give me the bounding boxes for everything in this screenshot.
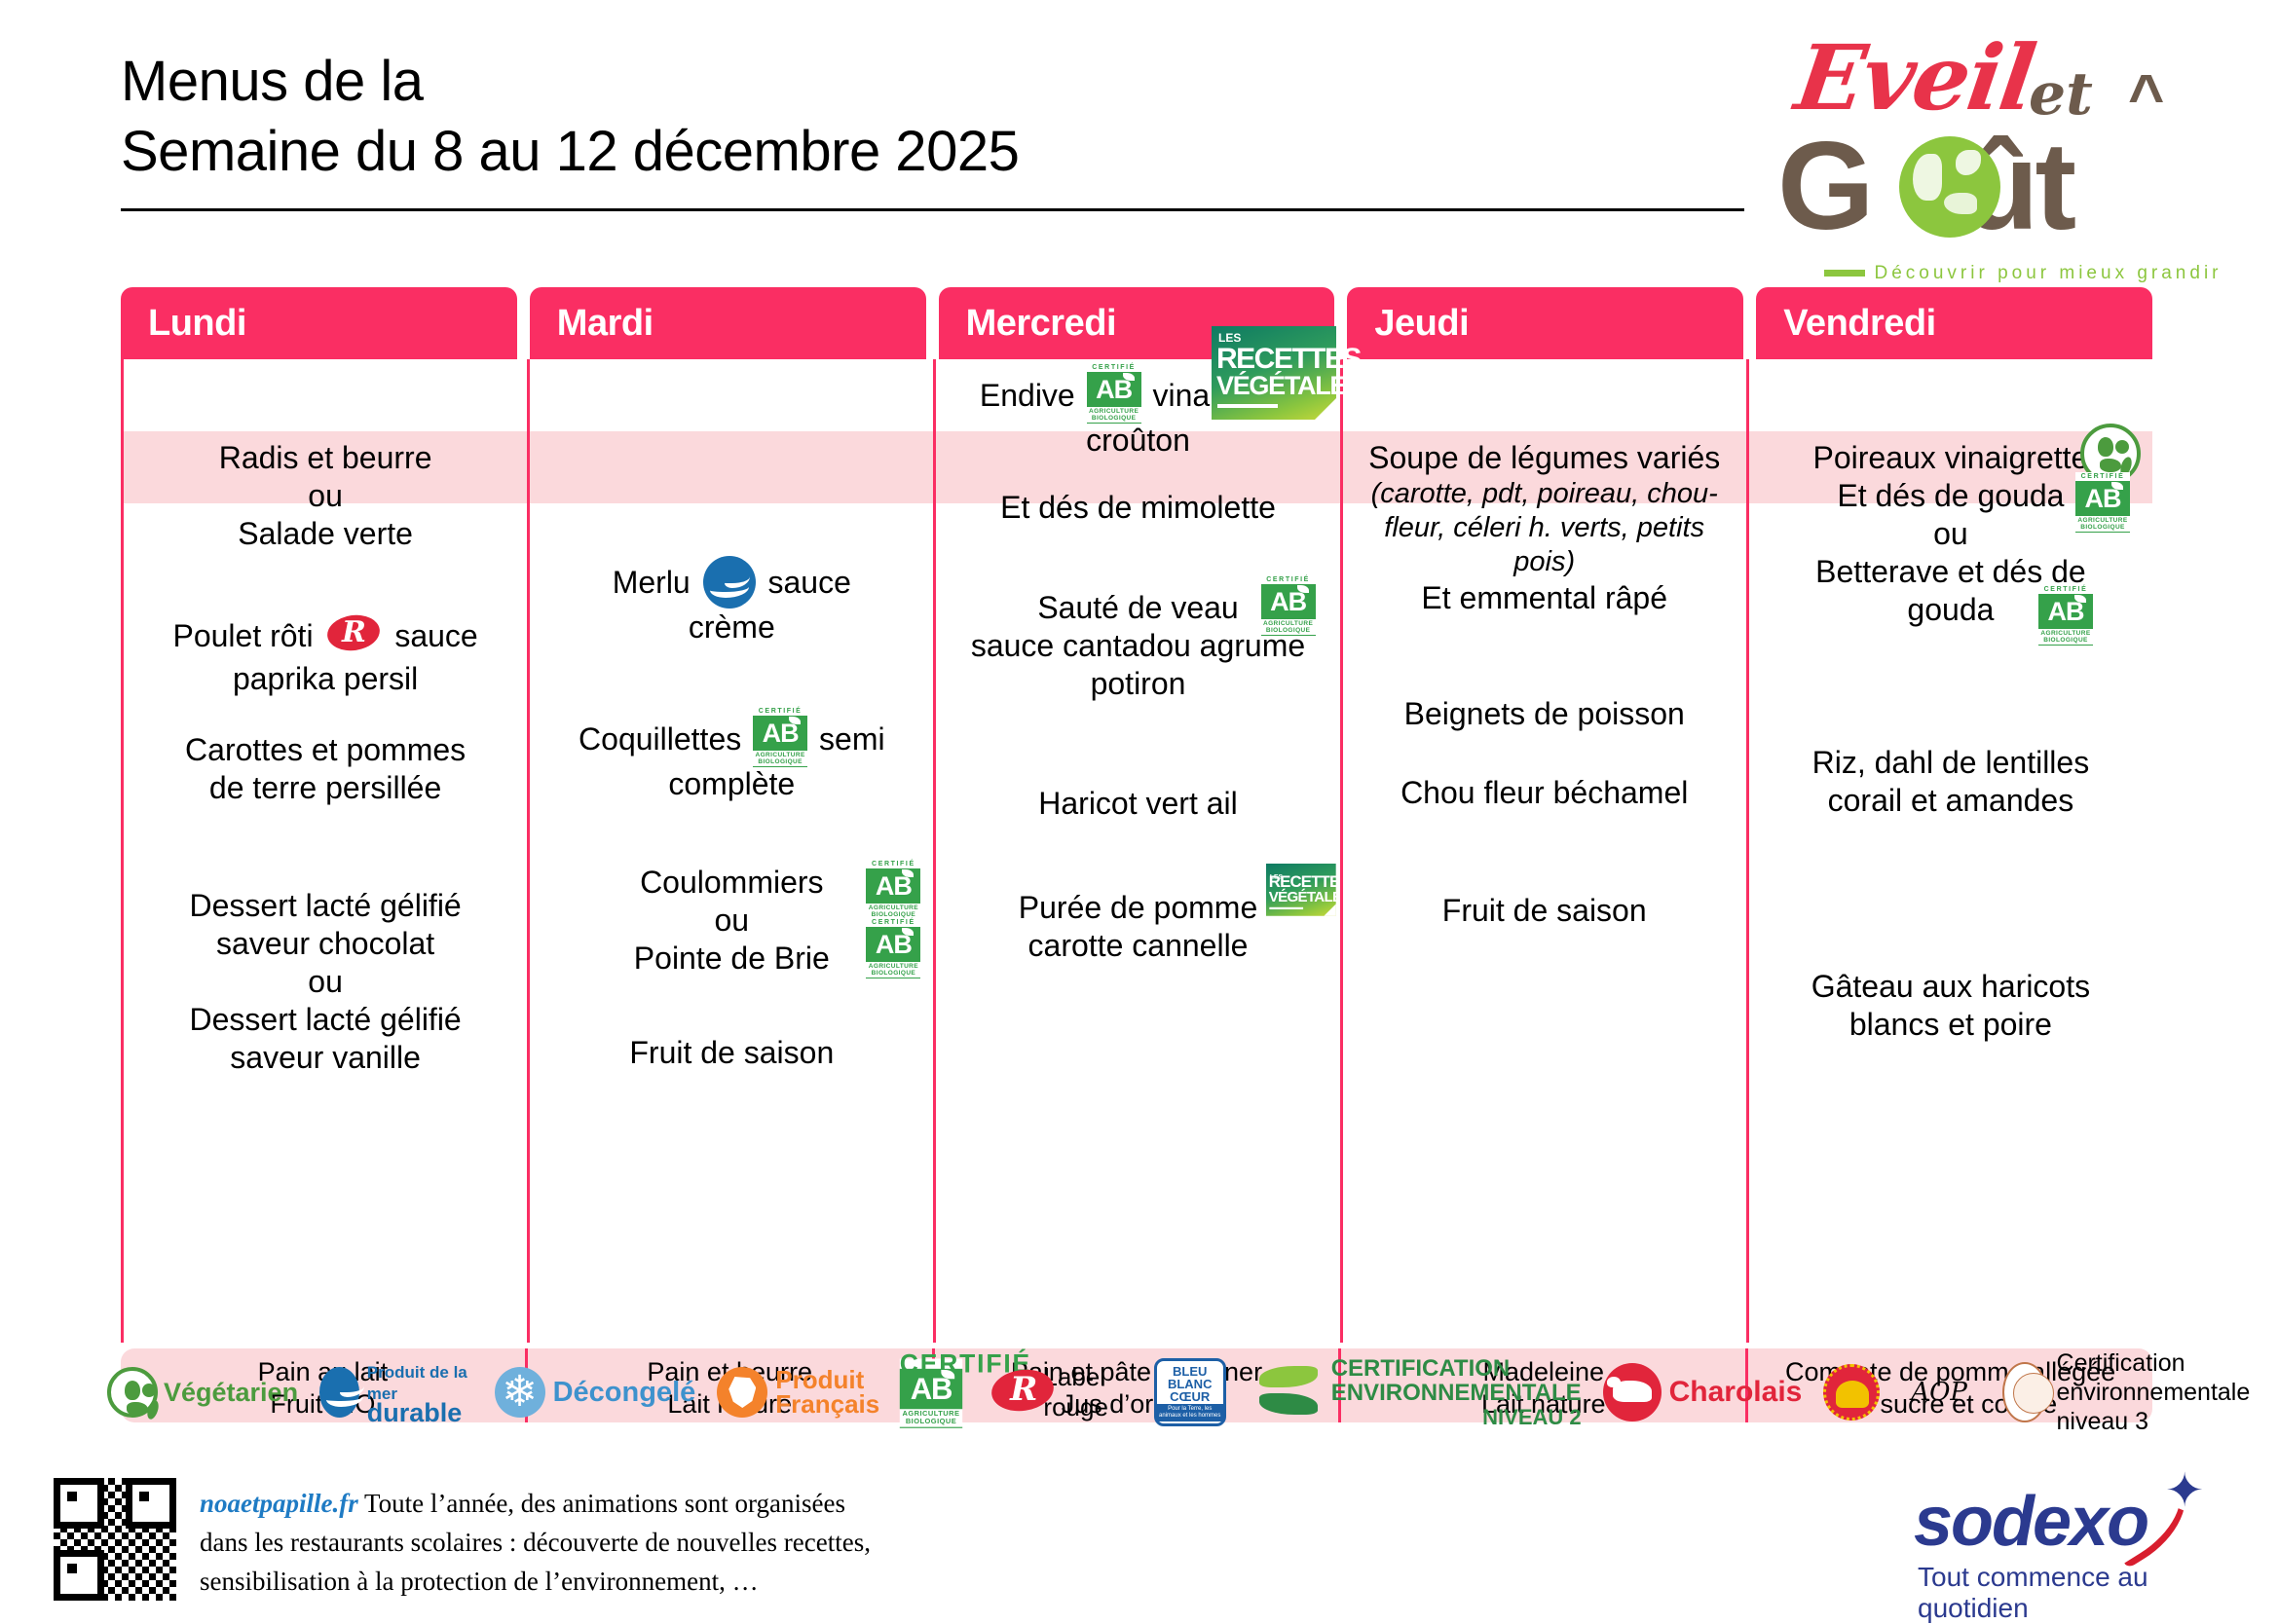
dish-line-italic: (carotte, pdt, poireau, chou-: [1349, 477, 1740, 511]
recettes-vegetales-badge-mercredi: LES RECETTES VÉGÉTALES: [1212, 326, 1336, 420]
page-header: Menus de la Semaine du 8 au 12 décembre …: [0, 0, 2278, 282]
dish-line: Coquillettes: [579, 721, 741, 757]
dish-line: crème: [536, 609, 927, 646]
dish-line: croûton: [942, 422, 1333, 460]
ab-cap: CERTIFIÉ: [1261, 575, 1316, 584]
ab-icon: CERTIFIÉ AB AGRICULTURE BIOLOGIQUE: [1261, 575, 1316, 634]
ab-cap: CERTIFIÉ: [866, 860, 920, 868]
footer-line3: sensibilisation à la protection de l’env…: [200, 1567, 759, 1596]
rv-vegetales: VÉGÉTALES: [1268, 890, 1339, 904]
legend-label-group: Produit de la mer durable: [367, 1362, 473, 1423]
ab-foot2: BIOLOGIQUE: [1087, 415, 1141, 424]
day-label: Mardi: [557, 303, 654, 345]
dish-line: Radis et beurre: [130, 439, 521, 477]
day-header-mardi: Mardi: [530, 287, 926, 359]
legend-label-group: Produit Français: [775, 1368, 879, 1417]
dish-line: Salade verte: [130, 515, 521, 553]
day-header-vendredi: Vendredi: [1756, 287, 2152, 359]
legend-label-group: Certification environnementale niveau 3: [2057, 1348, 2266, 1436]
dish-dessert: Fruit de saison: [1349, 892, 1740, 930]
ab-foot1: AGRICULTURE: [866, 904, 920, 911]
dish-entree: Soupe de légumes variés (carotte, pdt, p…: [1349, 439, 1740, 617]
rv-vegetales: VÉGÉTALES: [1216, 373, 1363, 399]
dish-dessert: Gâteau aux haricots blancs et poire: [1755, 968, 2147, 1044]
tagline-dash-left-icon: [1824, 270, 1865, 277]
menu-columns: Radis et beurre ou Salade verte Poulet r…: [121, 359, 2152, 1343]
recettes-vegetales-icon: LES RECETTES VÉGÉTALES: [1266, 864, 1336, 916]
day-header-lundi: Lundi: [121, 287, 517, 359]
ab-cap: CERTIFIÉ: [753, 707, 807, 716]
dish-entree: Radis et beurre ou Salade verte: [130, 439, 521, 553]
recettes-vegetales-badge-dessert: LES RECETTES VÉGÉTALES: [1266, 864, 1340, 918]
ab-foot1: AGRICULTURE: [1087, 408, 1141, 415]
ab-cap: CERTIFIÉ: [1087, 363, 1141, 372]
label-rouge-letter: R: [323, 613, 384, 660]
bleu-blanc-coeur-icon: BLEU BLANC CŒUR Pour la Terre, les anima…: [1154, 1358, 1226, 1426]
ab-foot1: AGRICULTURE: [2038, 630, 2093, 637]
page-footer: noaetpapille.fr Toute l’année, des anima…: [0, 1457, 2278, 1610]
page-title: Menus de la Semaine du 8 au 12 décembre …: [121, 47, 1737, 187]
day-label: Vendredi: [1783, 303, 1936, 345]
legend-label: Décongelé: [553, 1377, 696, 1409]
dish-line: Soupe de légumes variés: [1349, 439, 1740, 477]
dish-line: Et emmental râpé: [1349, 579, 1740, 617]
ab-cap: CERTIFIÉ: [2038, 585, 2093, 594]
legend-label-line1: CERTIFICATION: [1331, 1356, 1582, 1381]
dish-line: saveur chocolat: [130, 925, 521, 963]
dish-line: saveur vanille: [130, 1039, 521, 1077]
legend-label: Charolais: [1669, 1376, 1803, 1409]
legend-label-bottom: durable: [367, 1402, 473, 1423]
legend-label-group: CERTIFICATION ENVIRONNEMENTALE NIVEAU 2: [1331, 1356, 1582, 1429]
aop-badge-icon: [1823, 1364, 1880, 1421]
legend-item-label-rouge: R Label rouge: [988, 1362, 1133, 1422]
qr-finder-top-right: [126, 1478, 176, 1529]
title-underline: [121, 208, 1744, 211]
dish-line: Endive: [980, 378, 1075, 413]
dish-line: de terre persillée: [130, 769, 521, 807]
ab-icon: CERTIFIÉ AB AGRICULTURE BIOLOGIQUE: [866, 918, 920, 977]
qr-finder-top-left: [54, 1478, 104, 1529]
legend-label-line2: environnementale niveau 3: [2057, 1378, 2266, 1436]
menu-column-mardi: Merlu sauce crème Coquillettes CERTIFIÉ …: [527, 359, 933, 1343]
dish-line: Beignets de poisson: [1349, 695, 1740, 733]
dish-line: semi: [819, 721, 885, 757]
legend-label: Végétarien: [164, 1378, 298, 1408]
ab-foot2: BIOLOGIQUE: [1261, 627, 1316, 636]
dish-garniture: Haricot vert ail: [942, 785, 1333, 823]
dish-garniture: Coquillettes CERTIFIÉ AB AGRICULTURE BIO…: [536, 707, 927, 803]
dish-line: Poireaux vinaigrette: [1813, 440, 2089, 475]
vegetarien-icon: [107, 1367, 158, 1418]
sodexo-tagline: Tout commence au quotidien: [1918, 1562, 2235, 1624]
ab-foot2: BIOLOGIQUE: [866, 970, 920, 978]
ab-foot1: AGRICULTURE: [866, 963, 920, 970]
dish-line: Dessert lacté gélifié: [130, 1001, 521, 1039]
legend-item-certification-environnementale-n2: CERTIFICATION ENVIRONNEMENTALE NIVEAU 2: [1255, 1356, 1582, 1429]
dish-line: Merlu: [613, 565, 691, 600]
legend-item-decongele: ❄ Décongelé: [495, 1367, 696, 1418]
dish-garniture: Carottes et pommes de terre persillée: [130, 731, 521, 807]
sodexo-star-icon: ✦: [2165, 1468, 2204, 1515]
dish-line-italic: pois): [1349, 545, 1740, 579]
certification-legend: Végétarien Produit de la mer durable ❄ D…: [107, 1342, 2211, 1443]
ab-cap: CERTIFIÉ: [900, 1359, 962, 1369]
legend-item-aop-badge: [1823, 1364, 1889, 1421]
rv-recettes: RECETTES: [1216, 345, 1361, 374]
logo-circumflex-icon: ^: [2128, 60, 2164, 132]
dish-plat: Poulet rôti R sauce paprika persil: [130, 613, 521, 698]
rv-underline-icon: [1269, 907, 1303, 909]
dish-line: Gâteau aux haricots: [1755, 968, 2147, 1006]
ab-icon: CERTIFIÉ AB AGRICULTURE BIOLOGIQUE: [866, 860, 920, 918]
dish-dessert: Purée de pomme carotte cannelle LES RECE…: [942, 889, 1333, 965]
legend-item-agriculture-biologique: CERTIFIÉ AB AGRICULTURE BIOLOGIQUE: [901, 1363, 966, 1421]
legend-item-haute-valeur-environnementale: Certification environnementale niveau 3: [2002, 1348, 2266, 1436]
ab-foot1: AGRICULTURE: [753, 752, 807, 758]
day-label: Jeudi: [1374, 303, 1469, 345]
ab-foot1: AGRICULTURE: [2075, 517, 2130, 524]
dish-line: blancs et poire: [1755, 1006, 2147, 1044]
ab-cap: CERTIFIÉ: [2075, 472, 2130, 481]
dish-line: sauce: [394, 618, 477, 653]
ab-icon: CERTIFIÉ AB AGRICULTURE BIOLOGIQUE: [753, 707, 807, 765]
menu-column-jeudi: Soupe de légumes variés (carotte, pdt, p…: [1340, 359, 1746, 1343]
legend-item-aop-text: AOP: [1911, 1378, 1981, 1407]
haute-valeur-environnementale-icon: [2002, 1362, 2047, 1422]
ab-foot2: BIOLOGIQUE: [2075, 524, 2130, 533]
dish-dessert: Fruit de saison: [536, 1034, 927, 1072]
day-header-row: Lundi Mardi Mercredi Jeudi Vendredi: [121, 287, 2152, 359]
bbc-text: BLEU BLANC CŒUR: [1157, 1365, 1223, 1403]
dish-line: ou: [130, 963, 521, 1001]
dish-line: Carottes et pommes: [130, 731, 521, 769]
dish-plat: Riz, dahl de lentilles corail et amandes: [1755, 744, 2147, 820]
dish-line: sauce: [768, 565, 851, 600]
dish-fromage: Coulommiers ou Pointe de Brie CERTIFIÉ A…: [536, 864, 927, 978]
qr-finder-bottom-left: [54, 1550, 104, 1601]
dish-line: Haricot vert ail: [942, 785, 1333, 823]
footer-line2: dans les restaurants scolaires : découve…: [200, 1528, 871, 1557]
ab-icon: CERTIFIÉ AB AGRICULTURE BIOLOGIQUE: [900, 1359, 962, 1426]
certification-environnementale-icon: [1255, 1360, 1324, 1424]
label-rouge-icon: R: [323, 613, 384, 660]
footer-url-link[interactable]: noaetpapille.fr: [200, 1489, 358, 1518]
dish-plat: Beignets de poisson: [1349, 695, 1740, 733]
france-map-icon: [717, 1367, 767, 1418]
produit-mer-icon: [319, 1367, 359, 1418]
recettes-vegetales-icon: LES RECETTES VÉGÉTALES: [1212, 326, 1336, 420]
label-rouge-icon: R: [988, 1367, 1035, 1418]
legend-item-charolais: Charolais: [1603, 1363, 1803, 1421]
produit-mer-icon: [703, 556, 756, 609]
dish-line: corail et amandes: [1755, 782, 2147, 820]
ab-foot1: AGRICULTURE: [900, 1410, 962, 1418]
dish-line: Chou fleur béchamel: [1349, 774, 1740, 812]
dish-plat: Sauté de veau sauce cantadou agrume poti…: [942, 589, 1333, 703]
dish-garniture: Chou fleur béchamel: [1349, 774, 1740, 812]
legend-label-line3: NIVEAU 2: [1331, 1405, 1582, 1429]
ab-icon: CERTIFIÉ AB AGRICULTURE BIOLOGIQUE: [2038, 585, 2093, 644]
dish-line: complète: [536, 765, 927, 803]
legend-item-bleu-blanc-coeur: BLEU BLANC CŒUR Pour la Terre, les anima…: [1154, 1358, 1234, 1426]
dish-line: Dessert lacté gélifié: [130, 887, 521, 925]
legend-label: AOP: [1911, 1378, 1967, 1407]
dish-line: paprika persil: [130, 660, 521, 698]
menu-column-vendredi: Poireaux vinaigrette Et dés de gouda CER…: [1746, 359, 2152, 1343]
dish-line: carotte cannelle: [942, 927, 1333, 965]
dish-line: potiron: [942, 665, 1333, 703]
globe-icon: [1899, 136, 2000, 238]
dish-line: ou: [130, 477, 521, 515]
ab-icon: CERTIFIÉ AB AGRICULTURE BIOLOGIQUE: [2075, 472, 2130, 531]
footer-line1: Toute l’année, des animations sont organ…: [358, 1489, 845, 1518]
ab-cap: CERTIFIÉ: [866, 918, 920, 927]
legend-item-produit-francais: Produit Français: [717, 1367, 879, 1418]
legend-label-line1: Certification: [2057, 1348, 2266, 1378]
dish-line-italic: fleur, céleri h. verts, petits: [1349, 511, 1740, 545]
dish-line: Et dés de mimolette: [942, 489, 1333, 527]
title-line-1: Menus de la: [121, 47, 1737, 117]
menu-week-grid: Lundi Mardi Mercredi Jeudi Vendredi LES …: [121, 287, 2152, 1422]
footer-text: noaetpapille.fr Toute l’année, des anima…: [200, 1484, 969, 1601]
ab-foot2: BIOLOGIQUE: [900, 1418, 962, 1427]
sodexo-logo: sodexo ✦ Tout commence au quotidien: [1914, 1476, 2235, 1603]
eveil-et-gout-logo: Eveil et ^ G ût Découvrir pour mieux gra…: [1768, 18, 2264, 285]
rv-underline-icon: [1217, 404, 1278, 408]
dish-line: Fruit de saison: [1349, 892, 1740, 930]
day-label: Mercredi: [966, 303, 1116, 345]
title-line-2: Semaine du 8 au 12 décembre 2025: [121, 117, 1737, 187]
logo-eveil-text: Eveil: [1789, 25, 2039, 130]
dish-plat: Merlu sauce crème: [536, 556, 927, 646]
menu-column-mercredi: Endive CERTIFIÉ AB AGRICULTURE BIOLOGIQU…: [933, 359, 1339, 1343]
day-header-jeudi: Jeudi: [1347, 287, 1743, 359]
bbc-line3: CŒUR: [1170, 1389, 1210, 1404]
legend-item-produit-mer-durable: Produit de la mer durable: [319, 1362, 473, 1423]
dish-line: Riz, dahl de lentilles: [1755, 744, 2147, 782]
cow-icon: [1603, 1363, 1662, 1421]
day-label: Lundi: [148, 303, 246, 345]
dish-entree: Poireaux vinaigrette Et dés de gouda CER…: [1755, 439, 2147, 629]
dish-fromage: Et dés de mimolette: [942, 489, 1333, 527]
legend-item-vegetarien: Végétarien: [107, 1367, 298, 1418]
ab-foot1: AGRICULTURE: [1261, 620, 1316, 627]
qr-code[interactable]: [54, 1478, 176, 1601]
ab-icon: CERTIFIÉ AB AGRICULTURE BIOLOGIQUE: [1087, 363, 1141, 422]
ab-foot2: BIOLOGIQUE: [2038, 637, 2093, 646]
label-rouge-letter: R: [988, 1367, 1060, 1418]
bbc-sub: Pour la Terre, les animaux et les hommes: [1157, 1404, 1223, 1421]
tagline-text: Découvrir pour mieux grandir: [1875, 263, 2222, 283]
legend-label-line2: ENVIRONNEMENTALE: [1331, 1381, 1582, 1405]
dish-line: Fruit de saison: [536, 1034, 927, 1072]
dish-dessert: Dessert lacté gélifié saveur chocolat ou…: [130, 887, 521, 1077]
legend-label-bottom: Français: [775, 1392, 879, 1417]
menu-column-lundi: Radis et beurre ou Salade verte Poulet r…: [121, 359, 527, 1343]
snowflake-icon: ❄: [495, 1367, 545, 1418]
ab-foot2: BIOLOGIQUE: [753, 758, 807, 767]
dish-line: Poulet rôti: [172, 618, 313, 653]
